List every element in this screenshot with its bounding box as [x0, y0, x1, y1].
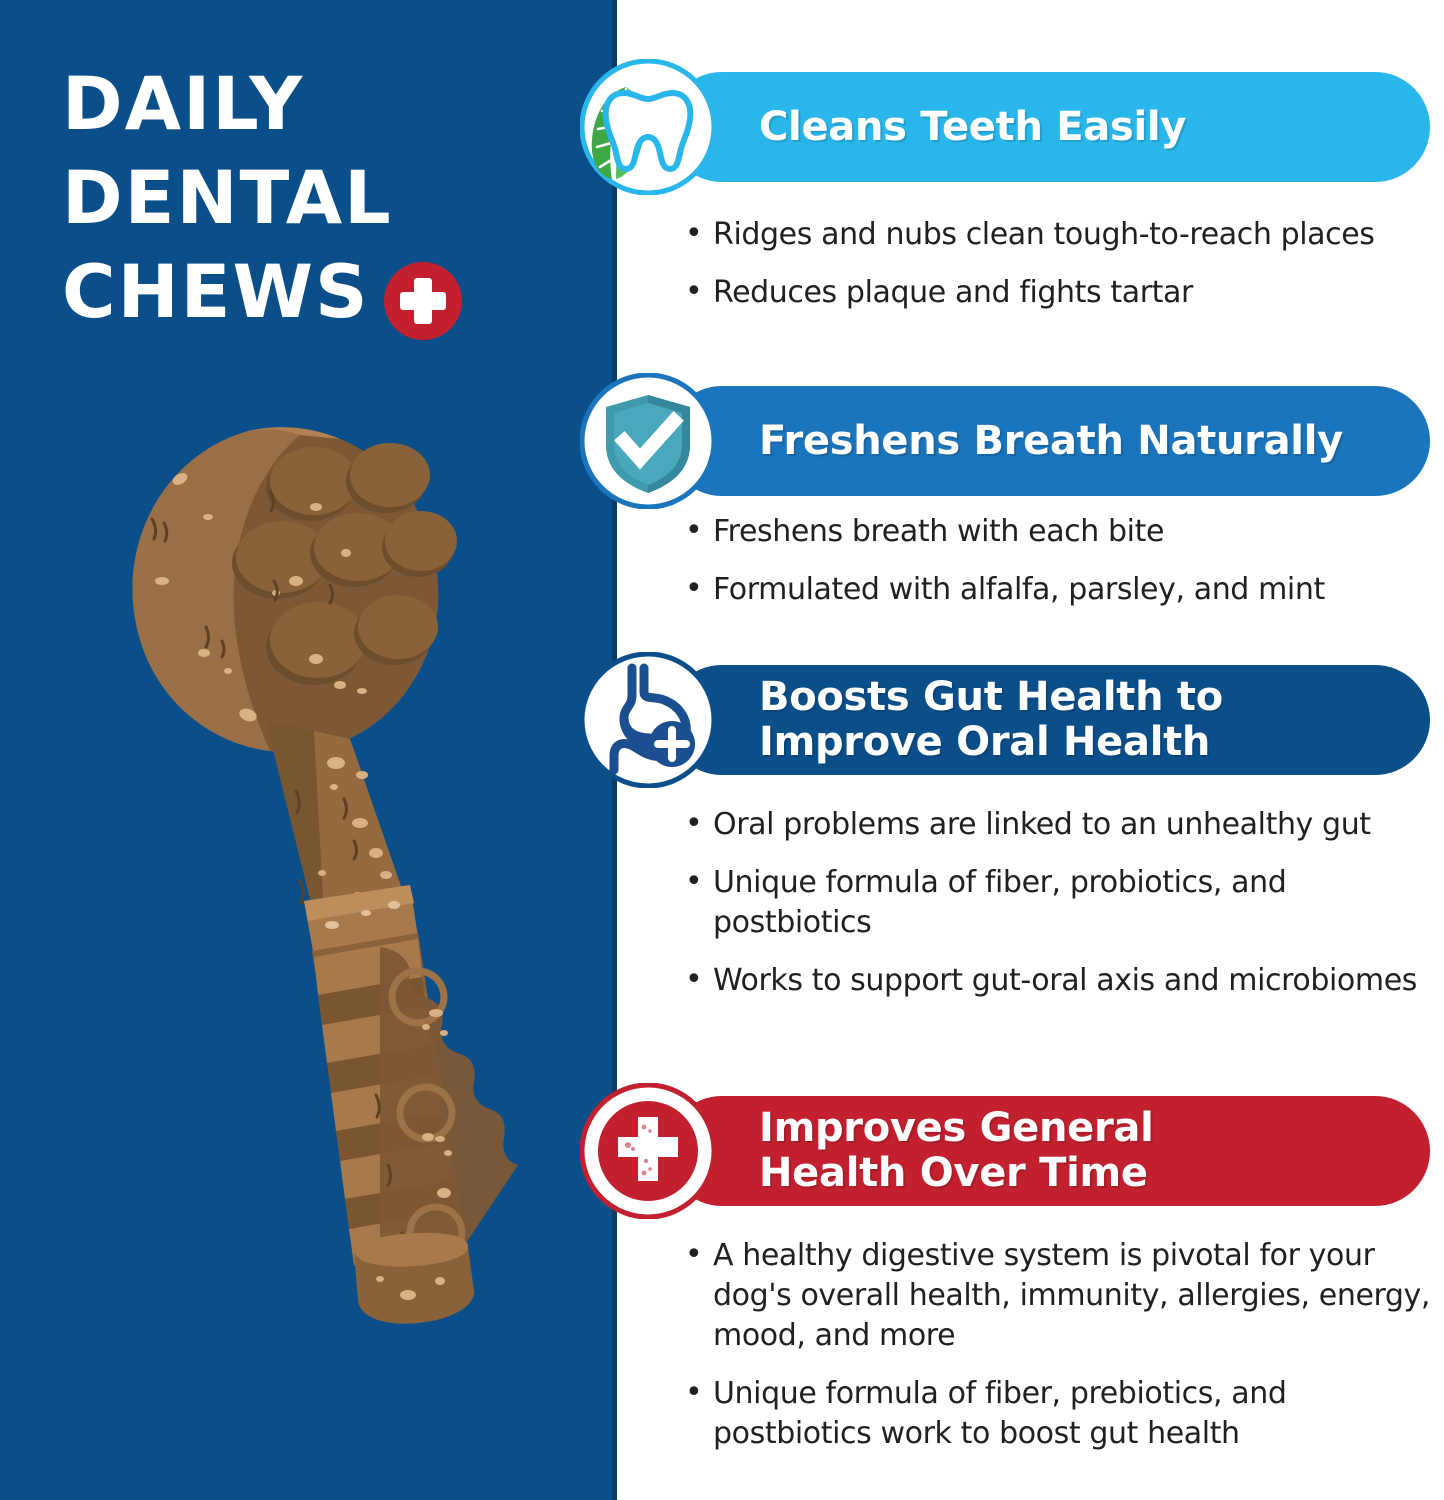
medical-cross-circle-icon — [580, 1083, 716, 1219]
product-feature-infographic: DAILY DENTAL CHEWS — [0, 0, 1444, 1500]
medical-cross-icon — [384, 262, 462, 340]
shield-check-icon — [580, 373, 716, 509]
bullet-list-improves-general-health: A healthy digestive system is pivotal fo… — [685, 1236, 1444, 1472]
tooth-with-mint-leaf-icon — [580, 59, 716, 195]
features-column: Cleans Teeth Easily Ridges and nubs clea… — [617, 0, 1444, 1500]
section-header-pill-improves-general-health: Improves General Health Over Time — [667, 1096, 1430, 1206]
section-heading-freshens-breath: Freshens Breath Naturally — [759, 419, 1363, 463]
list-item: Freshens breath with each bite — [685, 512, 1444, 552]
section-header-pill-cleans-teeth: Cleans Teeth Easily — [667, 72, 1430, 182]
title-line-2: DENTAL — [62, 152, 482, 246]
section-header-pill-boosts-gut-health: Boosts Gut Health to Improve Oral Health — [667, 665, 1430, 775]
section-heading-improves-general-health: Improves General Health Over Time — [759, 1106, 1174, 1196]
title-line-3: CHEWS — [62, 246, 370, 340]
chew-ridged-body — [312, 933, 518, 1275]
list-item: Ridges and nubs clean tough-to-reach pla… — [685, 215, 1444, 255]
section-heading-cleans-teeth: Cleans Teeth Easily — [759, 105, 1206, 149]
bullet-list-boosts-gut-health: Oral problems are linked to an unhealthy… — [685, 805, 1444, 1019]
heading-line-1: Improves General — [759, 1105, 1154, 1151]
page-title: DAILY DENTAL CHEWS — [62, 58, 482, 340]
list-item: Formulated with alfalfa, parsley, and mi… — [685, 570, 1444, 610]
heading-line-2: Health Over Time — [759, 1150, 1148, 1196]
bullet-list-freshens-breath: Freshens breath with each bite Formulate… — [685, 512, 1444, 628]
section-header-pill-freshens-breath: Freshens Breath Naturally — [667, 386, 1430, 496]
title-line-3-row: CHEWS — [62, 246, 482, 340]
list-item: A healthy digestive system is pivotal fo… — [685, 1236, 1444, 1356]
list-item: Works to support gut-oral axis and micro… — [685, 961, 1444, 1001]
stomach-plus-icon — [580, 652, 716, 788]
list-item: Reduces plaque and fights tartar — [685, 273, 1444, 313]
section-heading-boosts-gut-health: Boosts Gut Health to Improve Oral Health — [759, 675, 1243, 765]
list-item: Oral problems are linked to an unhealthy… — [685, 805, 1444, 845]
title-line-1: DAILY — [62, 58, 482, 152]
list-item: Unique formula of fiber, prebiotics, and… — [685, 1374, 1444, 1454]
dog-dental-chew-toy-illustration — [118, 395, 518, 1375]
heading-line-2: Improve Oral Health — [759, 719, 1210, 765]
bullet-list-cleans-teeth: Ridges and nubs clean tough-to-reach pla… — [685, 215, 1444, 331]
heading-line-1: Boosts Gut Health to — [759, 674, 1223, 720]
list-item: Unique formula of fiber, probiotics, and… — [685, 863, 1444, 943]
